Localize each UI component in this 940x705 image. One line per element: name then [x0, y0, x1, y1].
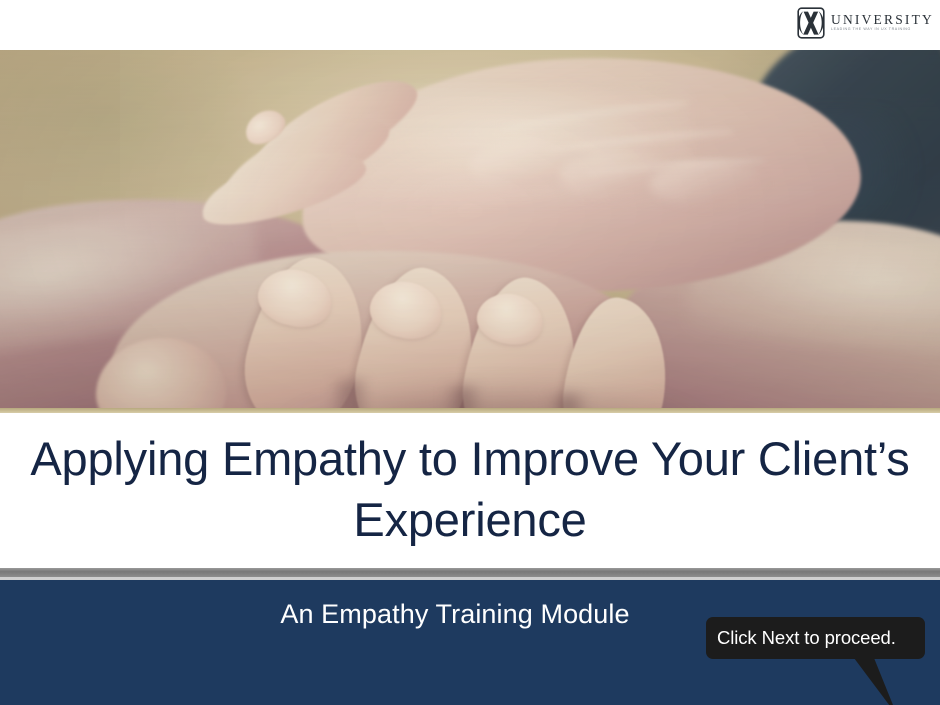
logo-tagline: LEADING THE WAY IN UX TRAINING: [831, 28, 934, 32]
header-band: UNIVERSITY LEADING THE WAY IN UX TRAININ…: [0, 0, 940, 50]
gray-divider-rule: [0, 568, 940, 577]
brand-logo: UNIVERSITY LEADING THE WAY IN UX TRAININ…: [794, 3, 934, 43]
hero-image-handshake: [0, 50, 940, 408]
callout-text: Click Next to proceed.: [717, 627, 896, 649]
logo-wordmark: UNIVERSITY LEADING THE WAY IN UX TRAININ…: [831, 13, 934, 34]
slide-title: Applying Empathy to Improve Your Client’…: [30, 428, 910, 550]
next-instruction-callout: Click Next to proceed.: [706, 617, 925, 659]
callout-bubble: Click Next to proceed.: [706, 617, 925, 659]
x-shield-icon: [794, 6, 828, 40]
logo-name: UNIVERSITY: [831, 13, 934, 27]
photo-fade-layer: [0, 50, 940, 408]
title-area: Applying Empathy to Improve Your Client’…: [0, 413, 940, 565]
gold-divider-rule: [0, 408, 940, 413]
presentation-slide: UNIVERSITY LEADING THE WAY IN UX TRAININ…: [0, 0, 940, 705]
